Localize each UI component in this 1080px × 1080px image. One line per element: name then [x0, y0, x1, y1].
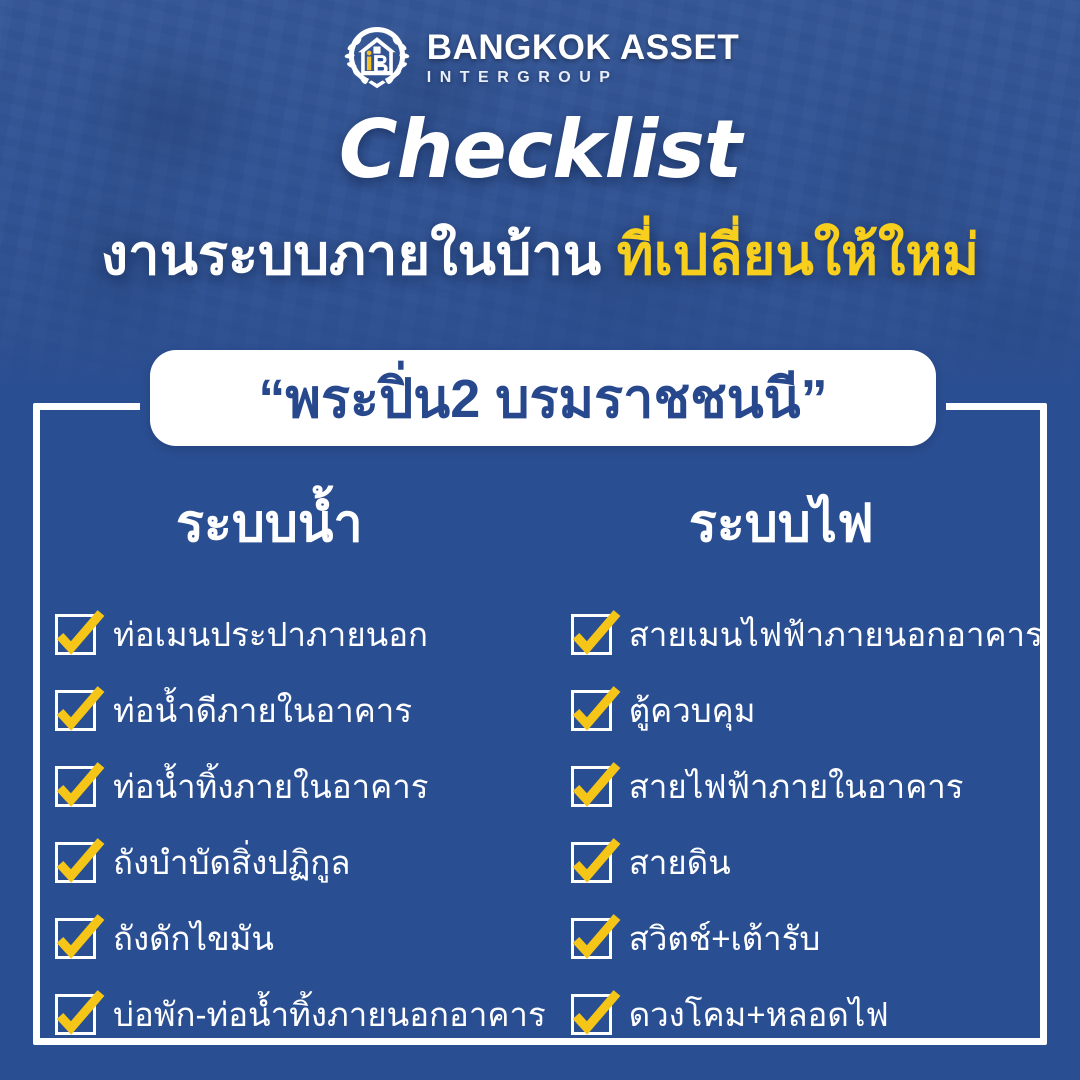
checklist-columns: ระบบน้ำ ท่อเมนประปาภายนอก ท่อน้ำดีภายในอ…	[33, 403, 1047, 1045]
subtitle-highlight-text: ที่เปลี่ยนให้ใหม่	[617, 223, 979, 286]
checklist-items-electrical: สายเมนไฟฟ้าภายนอกอาคาร ตู้ควบคุม สายไฟฟ้…	[546, 608, 1047, 1041]
list-item-label: ท่อเมนประปาภายนอก	[113, 608, 428, 661]
list-item-label: สายเมนไฟฟ้าภายนอกอาคาร	[629, 608, 1043, 661]
checkbox-checked-icon[interactable]	[55, 690, 96, 731]
list-item-label: สวิตช์+เต้ารับ	[629, 912, 821, 965]
checkbox-checked-icon[interactable]	[55, 918, 96, 959]
checkbox-checked-icon[interactable]	[55, 994, 96, 1035]
column-title-water: ระบบน้ำ	[33, 481, 546, 564]
list-item-label: ท่อน้ำทิ้งภายในอาคาร	[113, 760, 429, 813]
project-name-banner: “พระปิ่น2 บรมราชชนนี”	[150, 350, 936, 446]
list-item[interactable]: สายไฟฟ้าภายในอาคาร	[571, 760, 1047, 813]
checklist-items-water: ท่อเมนประปาภายนอก ท่อน้ำดีภายในอาคาร ท่อ…	[33, 608, 546, 1041]
list-item-label: ดวงโคม+หลอดไฟ	[629, 988, 889, 1041]
page-subtitle: งานระบบภายในบ้าน ที่เปลี่ยนให้ใหม่	[0, 224, 1080, 286]
checkbox-checked-icon[interactable]	[55, 842, 96, 883]
checkbox-checked-icon[interactable]	[571, 614, 612, 655]
list-item-label: สายดิน	[629, 836, 731, 889]
list-item[interactable]: สายดิน	[571, 836, 1047, 889]
page-title: Checklist	[0, 103, 1080, 196]
list-item-label: สายไฟฟ้าภายในอาคาร	[629, 760, 964, 813]
brand-name: BANGKOK ASSET	[427, 30, 739, 65]
checkbox-checked-icon[interactable]	[55, 766, 96, 807]
brand-logo: BANGKOK ASSET INTERGROUP	[0, 22, 1080, 94]
subtitle-plain-text: งานระบบภายในบ้าน	[101, 223, 601, 286]
list-item[interactable]: บ่อพัก-ท่อน้ำทิ้งภายนอกอาคาร	[55, 988, 546, 1041]
checkbox-checked-icon[interactable]	[55, 614, 96, 655]
project-name-text: “พระปิ่น2 บรมราชชนนี”	[258, 355, 827, 441]
column-title-electrical: ระบบไฟ	[546, 481, 1047, 564]
checklist-column-electrical: ระบบไฟ สายเมนไฟฟ้าภายนอกอาคาร ตู้ควบคุม	[546, 403, 1047, 1045]
checkbox-checked-icon[interactable]	[571, 842, 612, 883]
list-item-label: ถังบำบัดสิ่งปฏิกูล	[113, 836, 351, 889]
house-laurel-wreath-logo-icon	[341, 22, 413, 94]
list-item[interactable]: ท่อน้ำดีภายในอาคาร	[55, 684, 546, 737]
list-item-label: ตู้ควบคุม	[629, 684, 756, 737]
list-item-label: ถังดักไขมัน	[113, 912, 274, 965]
list-item[interactable]: ท่อน้ำทิ้งภายในอาคาร	[55, 760, 546, 813]
list-item[interactable]: ถังดักไขมัน	[55, 912, 546, 965]
list-item-label: ท่อน้ำดีภายในอาคาร	[113, 684, 412, 737]
checkbox-checked-icon[interactable]	[571, 690, 612, 731]
list-item[interactable]: ตู้ควบคุม	[571, 684, 1047, 737]
checkbox-checked-icon[interactable]	[571, 994, 612, 1035]
list-item[interactable]: สวิตช์+เต้ารับ	[571, 912, 1047, 965]
checkbox-checked-icon[interactable]	[571, 918, 612, 959]
list-item[interactable]: ท่อเมนประปาภายนอก	[55, 608, 546, 661]
list-item[interactable]: สายเมนไฟฟ้าภายนอกอาคาร	[571, 608, 1047, 661]
checklist-column-water: ระบบน้ำ ท่อเมนประปาภายนอก ท่อน้ำดีภายในอ…	[33, 403, 546, 1045]
list-item[interactable]: ดวงโคม+หลอดไฟ	[571, 988, 1047, 1041]
brand-subtitle: INTERGROUP	[427, 70, 739, 86]
checkbox-checked-icon[interactable]	[571, 766, 612, 807]
list-item-label: บ่อพัก-ท่อน้ำทิ้งภายนอกอาคาร	[113, 988, 546, 1041]
checklist-poster: BANGKOK ASSET INTERGROUP Checklist งานระ…	[0, 0, 1080, 1080]
list-item[interactable]: ถังบำบัดสิ่งปฏิกูล	[55, 836, 546, 889]
